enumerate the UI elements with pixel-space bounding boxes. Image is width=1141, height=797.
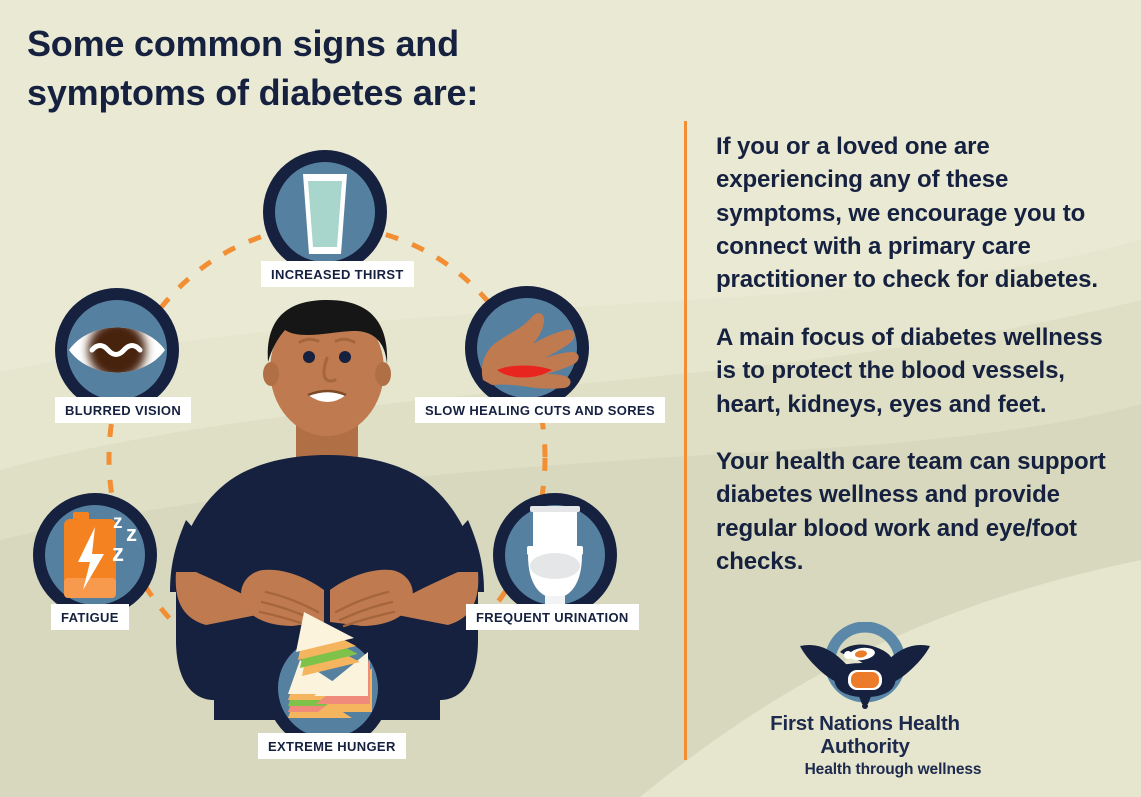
label-fatigue: FATIGUE [51, 604, 129, 630]
label-frequent-urination: FREQUENT URINATION [466, 604, 639, 630]
page-title: Some common signs and symptoms of diabet… [27, 20, 647, 118]
infographic-canvas: Some common signs and symptoms of diabet… [0, 0, 1141, 797]
orange-vertical-divider [684, 121, 687, 760]
slow-healing-cuts-icon [465, 286, 589, 410]
paragraph-3: Your health care team can support diabet… [716, 445, 1128, 578]
logo-organization-name: First Nations Health Authority [740, 713, 990, 758]
svg-text:z: z [112, 540, 124, 567]
fnha-thunderbird-logo-mark [740, 622, 990, 712]
label-blurred-vision: BLURRED VISION [55, 397, 191, 423]
title-line-1: Some common signs and [27, 20, 647, 69]
fatigue-icon: z z z [33, 493, 157, 617]
svg-text:z: z [113, 512, 123, 533]
blurred-vision-icon [55, 288, 179, 412]
label-increased-thirst: INCREASED THIRST [261, 261, 414, 287]
paragraph-2: A main focus of diabetes wellness is to … [716, 321, 1128, 421]
label-extreme-hunger: EXTREME HUNGER [258, 733, 406, 759]
right-text-column: If you or a loved one are experiencing a… [716, 130, 1128, 578]
svg-text:z: z [126, 521, 137, 546]
frequent-urination-icon [493, 493, 617, 622]
increased-thirst-icon [263, 150, 387, 274]
fnha-logo: First Nations Health Authority Health th… [740, 622, 990, 780]
paragraph-1: If you or a loved one are experiencing a… [716, 130, 1128, 297]
title-line-2: symptoms of diabetes are: [27, 69, 647, 118]
label-slow-healing-cuts: SLOW HEALING CUTS AND SORES [415, 397, 665, 423]
logo-tagline: Health through wellness [740, 761, 990, 780]
